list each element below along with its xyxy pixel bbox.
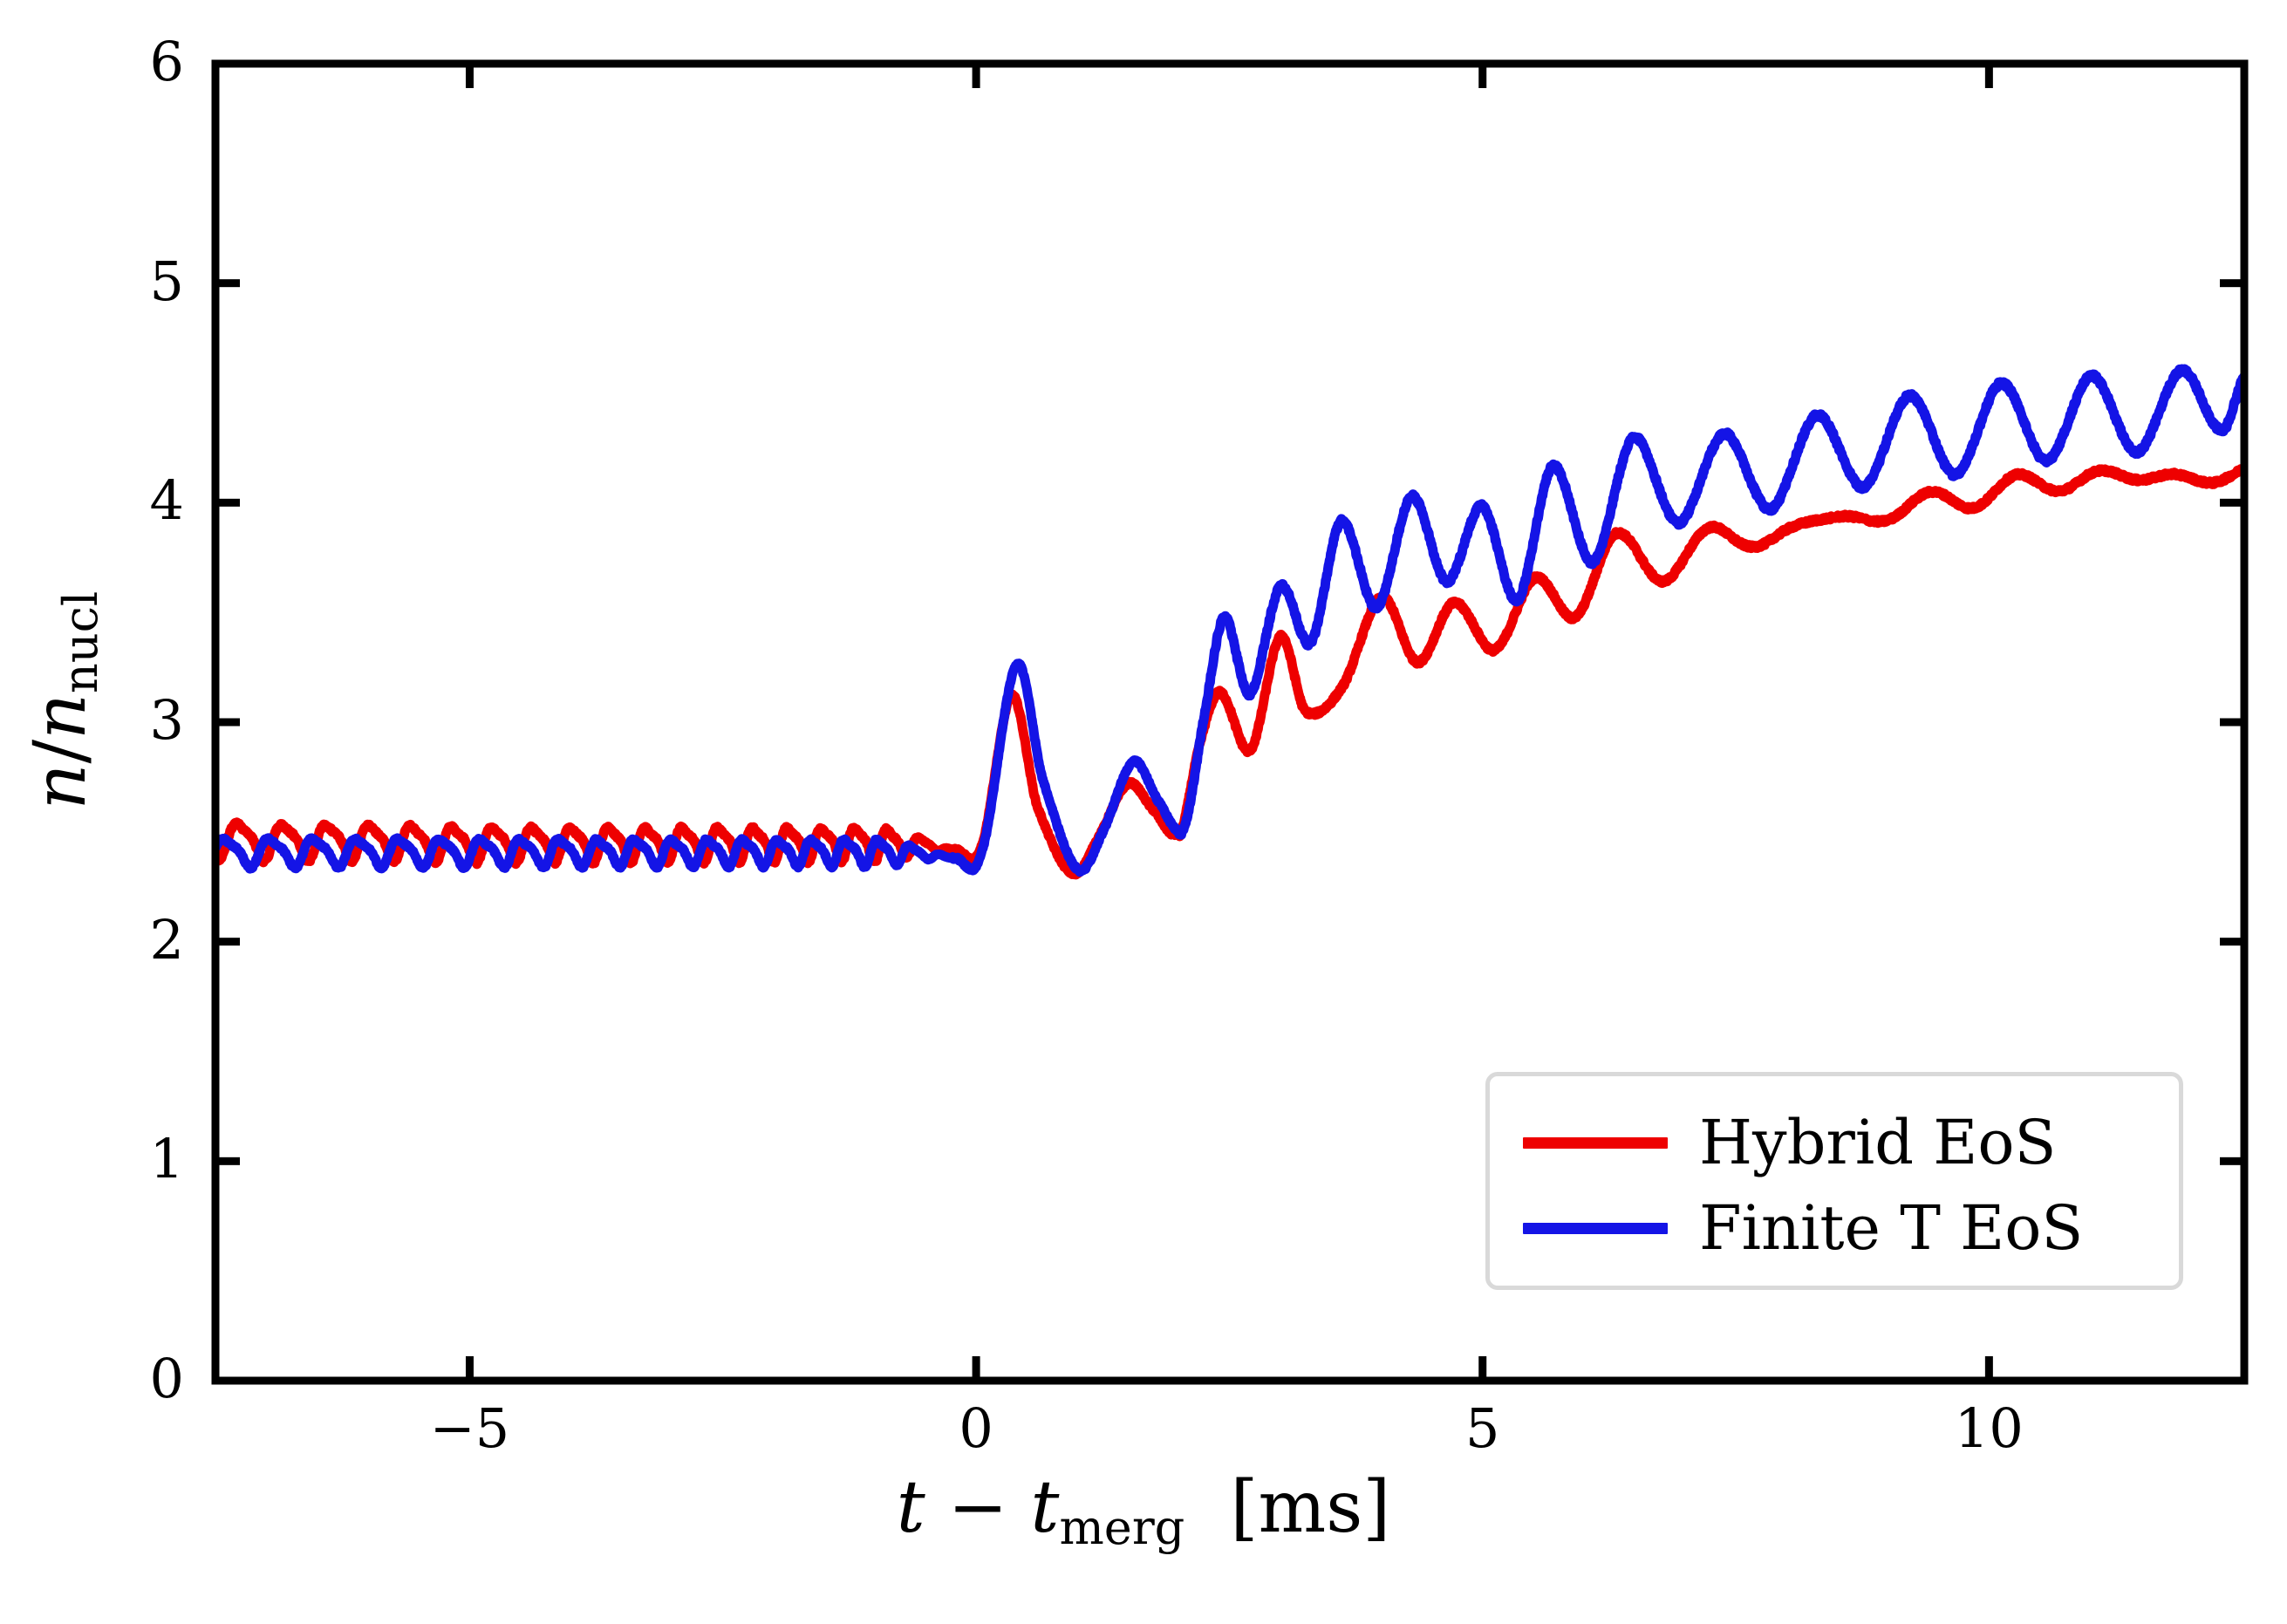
- x-tick-mark--5: [466, 64, 474, 88]
- legend-entry-hybrid-eos[interactable]: Hybrid EoS: [1490, 1101, 2179, 1184]
- y-tick-mark-1: [2220, 1157, 2244, 1165]
- y-tick-label-1: 1: [150, 1132, 184, 1186]
- y-tick-mark-2: [215, 938, 240, 945]
- x-tick-mark-10: [1985, 1356, 1993, 1381]
- ylabel-n-numerator: n: [19, 764, 102, 810]
- x-tick-mark--5: [466, 1356, 474, 1381]
- xlabel-unit: [ms]: [1230, 1466, 1390, 1549]
- x-tick-mark-0: [973, 1356, 980, 1381]
- ylabel-n-denominator: n: [19, 693, 102, 740]
- y-tick-label-3: 3: [150, 693, 184, 747]
- xlabel-t-merg: t: [1031, 1466, 1060, 1549]
- legend-entry-finite-t-eos[interactable]: Finite T EoS: [1490, 1186, 2179, 1270]
- y-tick-mark-3: [2220, 719, 2244, 727]
- y-tick-label-6: 6: [150, 35, 184, 89]
- y-tick-mark-4: [2220, 499, 2244, 507]
- y-tick-mark-2: [2220, 938, 2244, 945]
- xlabel-t: t: [897, 1466, 925, 1549]
- x-tick-mark-10: [1985, 64, 1993, 88]
- curve-hybrid-eos: [215, 469, 2244, 875]
- xlabel-subscript-merg: merg: [1059, 1500, 1184, 1555]
- x-axis-label: t − tmerg [ms]: [0, 1470, 2287, 1546]
- x-tick-mark-5: [1478, 1356, 1486, 1381]
- y-tick-mark-4: [215, 499, 240, 507]
- xlabel-minus-sign: −: [948, 1466, 1008, 1549]
- spine-bottom: [212, 1377, 2249, 1385]
- x-tick-mark-0: [973, 64, 980, 88]
- y-tick-mark-1: [215, 1157, 240, 1165]
- ylabel-subscript-nucl: nucl: [53, 591, 108, 693]
- x-tick-label-10: 10: [1901, 1402, 2076, 1456]
- legend-label-finite-t-eos: Finite T EoS: [1699, 1198, 2083, 1259]
- legend-color-swatch-blue: [1523, 1223, 1668, 1234]
- y-axis-label: n/nnucl: [24, 351, 99, 1049]
- spine-top: [212, 60, 2249, 68]
- x-tick-label-−5: −5: [382, 1402, 556, 1456]
- y-tick-label-4: 4: [150, 474, 184, 528]
- legend[interactable]: Hybrid EoS Finite T EoS: [1485, 1072, 2183, 1290]
- y-tick-mark-3: [215, 719, 240, 727]
- figure-canvas: 0123456 −50510 n/nnucl t − tmerg [ms] Hy…: [0, 0, 2287, 1624]
- legend-color-swatch-red: [1523, 1137, 1668, 1149]
- plot-svg: [0, 0, 2287, 1624]
- x-tick-label-5: 5: [1396, 1402, 1570, 1456]
- y-tick-label-2: 2: [150, 913, 184, 967]
- y-tick-label-5: 5: [150, 255, 184, 309]
- y-tick-mark-5: [2220, 279, 2244, 287]
- legend-label-hybrid-eos: Hybrid EoS: [1699, 1112, 2057, 1173]
- x-tick-label-0: 0: [889, 1402, 1063, 1456]
- x-tick-mark-5: [1478, 64, 1486, 88]
- y-tick-mark-5: [215, 279, 240, 287]
- y-tick-label-0: 0: [150, 1352, 184, 1406]
- curve-finite-t-eos: [215, 369, 2244, 872]
- ylabel-slash: /: [19, 740, 102, 764]
- data-curves: [215, 369, 2244, 875]
